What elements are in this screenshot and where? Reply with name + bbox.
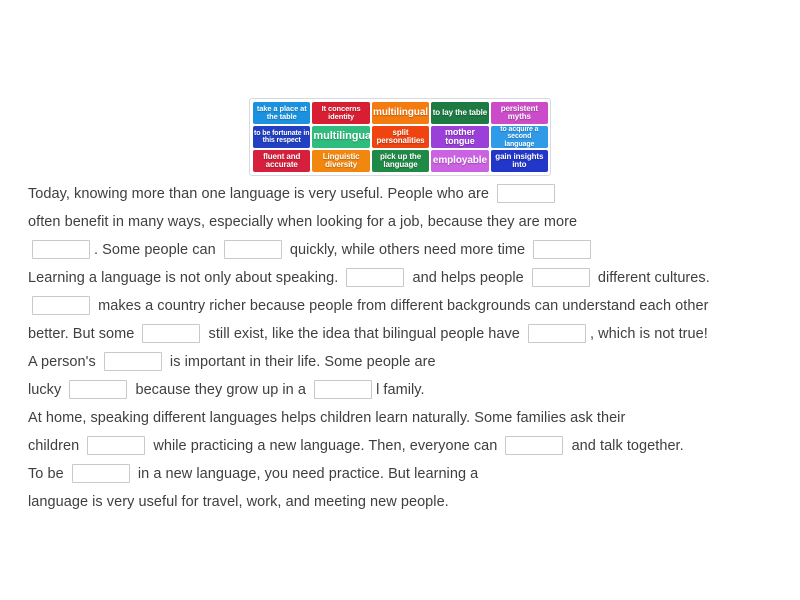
passage-line: lucky because they grow up in a l family… bbox=[28, 376, 776, 404]
answer-blank[interactable] bbox=[314, 380, 372, 399]
word-tile-label: Linguistic diversity bbox=[313, 153, 368, 169]
passage-text: children bbox=[28, 438, 83, 454]
passage-text: lucky bbox=[28, 382, 65, 398]
passage-text: in a new language, you need practice. Bu… bbox=[134, 466, 478, 482]
passage-line: language is very useful for travel, work… bbox=[28, 488, 776, 516]
passage-line: often benefit in many ways, especially w… bbox=[28, 208, 776, 236]
word-tile-label: gain insights into bbox=[492, 153, 547, 169]
passage-text: makes a country richer because people fr… bbox=[94, 298, 708, 314]
answer-blank[interactable] bbox=[32, 240, 90, 259]
word-tile-label: pick up the language bbox=[373, 153, 428, 169]
word-bank-row: to be fortunate in this respectmultiling… bbox=[253, 126, 548, 148]
passage-text: quickly, while others need more time bbox=[286, 242, 529, 258]
passage-line: To be in a new language, you need practi… bbox=[28, 460, 776, 488]
passage-text: To be bbox=[28, 466, 68, 482]
passage-text: because they grow up in a bbox=[131, 382, 310, 398]
word-tile[interactable]: multilingua bbox=[312, 126, 369, 148]
passage-text: language is very useful for travel, work… bbox=[28, 494, 449, 510]
word-tile[interactable]: take a place at the table bbox=[253, 102, 310, 124]
passage-text: still exist, like the idea that bilingua… bbox=[204, 326, 524, 342]
gap-fill-passage: Today, knowing more than one language is… bbox=[28, 180, 776, 516]
passage-text: At home, speaking different languages he… bbox=[28, 410, 625, 426]
passage-text: A person's bbox=[28, 354, 100, 370]
answer-blank[interactable] bbox=[32, 296, 90, 315]
word-tile[interactable]: It concerns identity bbox=[312, 102, 369, 124]
word-tile-label: to acquire a second language bbox=[492, 126, 547, 147]
word-tile[interactable]: mother tongue bbox=[431, 126, 488, 148]
word-tile[interactable]: to lay the table bbox=[431, 102, 488, 124]
word-tile-label: take a place at the table bbox=[254, 105, 309, 120]
answer-blank[interactable] bbox=[72, 464, 130, 483]
passage-line: children while practicing a new language… bbox=[28, 432, 776, 460]
passage-line: makes a country richer because people fr… bbox=[28, 292, 776, 320]
word-tile-label: split personalities bbox=[373, 129, 428, 145]
passage-line: . Some people can quickly, while others … bbox=[28, 236, 776, 264]
word-tile-label: It concerns identity bbox=[313, 105, 368, 120]
word-tile[interactable]: to acquire a second language bbox=[491, 126, 548, 148]
answer-blank[interactable] bbox=[505, 436, 563, 455]
answer-blank[interactable] bbox=[69, 380, 127, 399]
answer-blank[interactable] bbox=[497, 184, 555, 203]
word-tile[interactable]: to be fortunate in this respect bbox=[253, 126, 310, 148]
word-tile-label: mother tongue bbox=[432, 128, 487, 146]
passage-text: and talk together. bbox=[567, 438, 683, 454]
answer-blank[interactable] bbox=[528, 324, 586, 343]
answer-blank[interactable] bbox=[533, 240, 591, 259]
word-tile-label: fluent and accurate bbox=[254, 153, 309, 169]
passage-text: often benefit in many ways, especially w… bbox=[28, 214, 577, 230]
passage-text: while practicing a new language. Then, e… bbox=[149, 438, 501, 454]
answer-blank[interactable] bbox=[87, 436, 145, 455]
word-bank: take a place at the tableIt concerns ide… bbox=[249, 98, 551, 176]
passage-text: Learning a language is not only about sp… bbox=[28, 270, 342, 286]
word-tile[interactable]: fluent and accurate bbox=[253, 150, 310, 172]
passage-text: is important in their life. Some people … bbox=[166, 354, 436, 370]
passage-line: Learning a language is not only about sp… bbox=[28, 264, 776, 292]
word-tile-label: multilingua bbox=[313, 131, 368, 142]
passage-text: . Some people can bbox=[94, 242, 220, 258]
passage-text: better. But some bbox=[28, 326, 138, 342]
passage-text: l family. bbox=[376, 382, 425, 398]
word-tile-label: to be fortunate in this respect bbox=[254, 130, 309, 144]
answer-blank[interactable] bbox=[224, 240, 282, 259]
word-tile[interactable]: pick up the language bbox=[372, 150, 429, 172]
passage-text: different cultures. bbox=[594, 270, 710, 286]
word-tile-label: to lay the table bbox=[432, 109, 487, 117]
passage-text: Today, knowing more than one language is… bbox=[28, 186, 493, 202]
word-tile[interactable]: multilingual bbox=[372, 102, 429, 124]
word-tile[interactable]: employable bbox=[431, 150, 488, 172]
passage-text: , which is not true! bbox=[590, 326, 708, 342]
word-tile[interactable]: Linguistic diversity bbox=[312, 150, 369, 172]
word-tile[interactable]: split personalities bbox=[372, 126, 429, 148]
word-bank-row: take a place at the tableIt concerns ide… bbox=[253, 102, 548, 124]
word-tile[interactable]: gain insights into bbox=[491, 150, 548, 172]
word-tile[interactable]: persistent myths bbox=[491, 102, 548, 124]
word-tile-label: multilingual bbox=[373, 108, 428, 118]
word-tile-label: employable bbox=[432, 156, 487, 166]
passage-line: better. But some still exist, like the i… bbox=[28, 320, 776, 348]
answer-blank[interactable] bbox=[104, 352, 162, 371]
passage-line: A person's is important in their life. S… bbox=[28, 348, 776, 376]
answer-blank[interactable] bbox=[532, 268, 590, 287]
answer-blank[interactable] bbox=[346, 268, 404, 287]
answer-blank[interactable] bbox=[142, 324, 200, 343]
passage-line: At home, speaking different languages he… bbox=[28, 404, 776, 432]
word-tile-label: persistent myths bbox=[492, 105, 547, 121]
passage-line: Today, knowing more than one language is… bbox=[28, 180, 776, 208]
word-bank-row: fluent and accurateLinguistic diversityp… bbox=[253, 150, 548, 172]
passage-text: and helps people bbox=[408, 270, 527, 286]
